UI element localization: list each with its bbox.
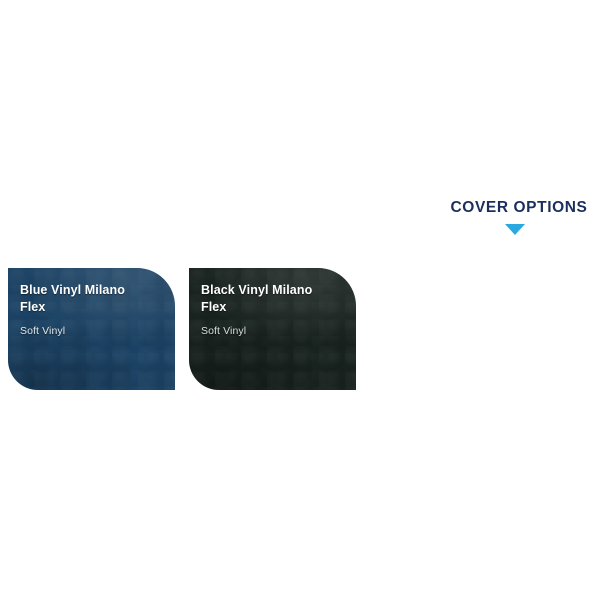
card-text-group: Black Vinyl Milano Flex Soft Vinyl: [201, 282, 344, 338]
page-title: COVER OPTIONS: [430, 198, 600, 218]
cover-option-name: Blue Vinyl Milano Flex: [20, 282, 152, 316]
cover-option-material: Soft Vinyl: [201, 324, 344, 338]
cover-options-card-list: Blue Vinyl Milano Flex Soft Vinyl Black …: [8, 268, 356, 390]
cover-options-heading: COVER OPTIONS: [430, 198, 600, 238]
cover-option-card-blue-vinyl-milano-flex[interactable]: Blue Vinyl Milano Flex Soft Vinyl: [8, 268, 175, 390]
cover-option-name: Black Vinyl Milano Flex: [201, 282, 333, 316]
cover-option-card-black-vinyl-milano-flex[interactable]: Black Vinyl Milano Flex Soft Vinyl: [189, 268, 356, 390]
triangle-down-icon: [505, 224, 525, 235]
card-text-group: Blue Vinyl Milano Flex Soft Vinyl: [20, 282, 163, 338]
heading-arrow-container: [430, 224, 600, 238]
cover-option-material: Soft Vinyl: [20, 324, 163, 338]
cover-options-panel: COVER OPTIONS Blue Vinyl Milano Flex Sof…: [0, 0, 600, 600]
